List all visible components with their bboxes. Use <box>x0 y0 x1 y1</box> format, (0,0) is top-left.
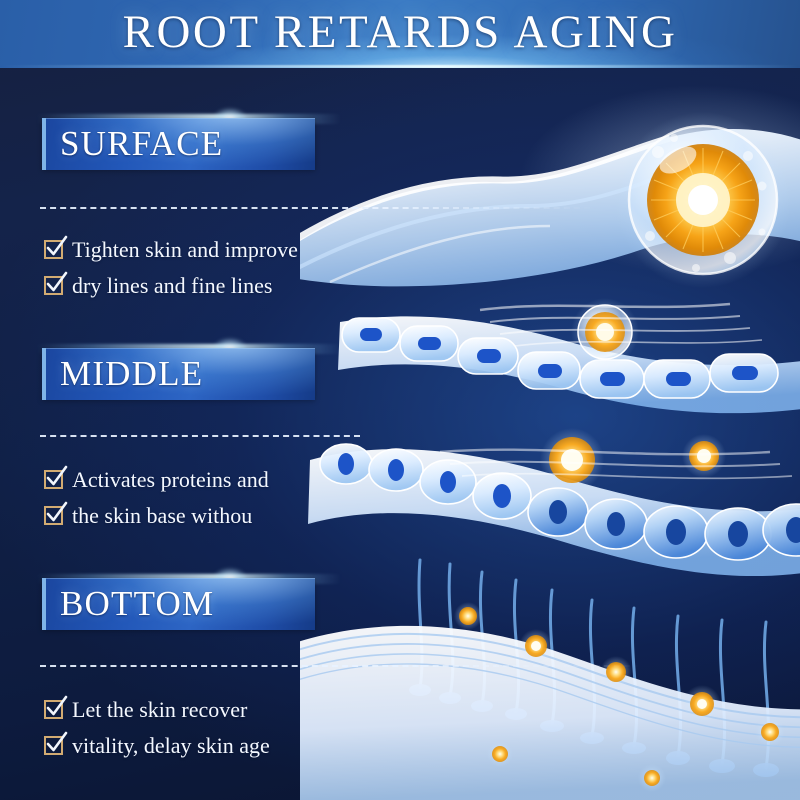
section-label-bottom: BOTTOM <box>42 578 315 630</box>
bullet-list-surface: Tighten skin and improve dry lines and f… <box>44 234 384 306</box>
golden-essence-sphere <box>615 112 791 288</box>
list-item-label: dry lines and fine lines <box>72 270 272 301</box>
golden-particle <box>755 717 785 747</box>
header-band: ROOT RETARDS AGING <box>0 0 800 68</box>
dashed-divider <box>40 207 600 209</box>
cell <box>420 460 476 504</box>
list-item: Activates proteins and <box>44 464 384 497</box>
list-item-label: vitality, delay skin age <box>72 730 270 761</box>
list-item-label: Activates proteins and <box>72 464 269 495</box>
list-item-label: the skin base withou <box>72 500 252 531</box>
checkbox-checked-icon <box>44 470 63 489</box>
section-label-text: MIDDLE <box>60 348 203 400</box>
checkbox-checked-icon <box>44 276 63 295</box>
cell <box>710 354 778 392</box>
cell <box>473 473 531 519</box>
cell <box>763 504 800 556</box>
checkbox-checked-icon <box>44 736 63 755</box>
dashed-divider <box>40 665 640 667</box>
cell <box>644 360 710 398</box>
cell <box>585 499 647 549</box>
page-title: ROOT RETARDS AGING <box>0 2 800 62</box>
list-item-label: Let the skin recover <box>72 694 247 725</box>
cell <box>342 318 400 352</box>
cell <box>644 506 708 558</box>
list-item: vitality, delay skin age <box>44 730 384 763</box>
section-surface: SURFACE Tighten skin and improve dry lin… <box>0 118 420 170</box>
skin-layers-cross-section-illustration <box>300 60 800 800</box>
section-bottom: BOTTOM Let the skin recover vitality, de… <box>0 578 420 630</box>
golden-particle <box>600 656 632 688</box>
cell <box>458 338 518 374</box>
golden-particle <box>519 629 553 663</box>
golden-particle <box>487 741 513 767</box>
bullet-list-middle: Activates proteins and the skin base wit… <box>44 464 384 536</box>
checkbox-checked-icon <box>44 700 63 719</box>
golden-particle <box>454 602 482 630</box>
cell <box>580 360 644 398</box>
list-item: Let the skin recover <box>44 694 384 727</box>
dashed-divider <box>40 435 360 437</box>
golden-particle <box>540 428 604 492</box>
checkbox-checked-icon <box>44 506 63 525</box>
list-item: the skin base withou <box>44 500 384 533</box>
list-item-label: Tighten skin and improve <box>72 234 298 265</box>
golden-particle <box>638 764 666 792</box>
bullet-list-bottom: Let the skin recover vitality, delay ski… <box>44 694 384 766</box>
golden-particle <box>571 298 639 366</box>
cell <box>518 352 580 389</box>
section-middle: MIDDLE Activates proteins and the skin b… <box>0 348 420 400</box>
list-item: Tighten skin and improve <box>44 234 384 267</box>
golden-particle <box>683 685 721 723</box>
section-label-text: BOTTOM <box>60 578 214 630</box>
checkbox-checked-icon <box>44 240 63 259</box>
golden-particle <box>682 434 726 478</box>
poster-root: ROOT RETARDS AGING SURFACE Tighten skin … <box>0 0 800 800</box>
section-label-surface: SURFACE <box>42 118 315 170</box>
list-item: dry lines and fine lines <box>44 270 384 303</box>
section-label-middle: MIDDLE <box>42 348 315 400</box>
cell <box>705 508 771 560</box>
cell <box>528 488 588 536</box>
section-label-text: SURFACE <box>60 118 223 170</box>
